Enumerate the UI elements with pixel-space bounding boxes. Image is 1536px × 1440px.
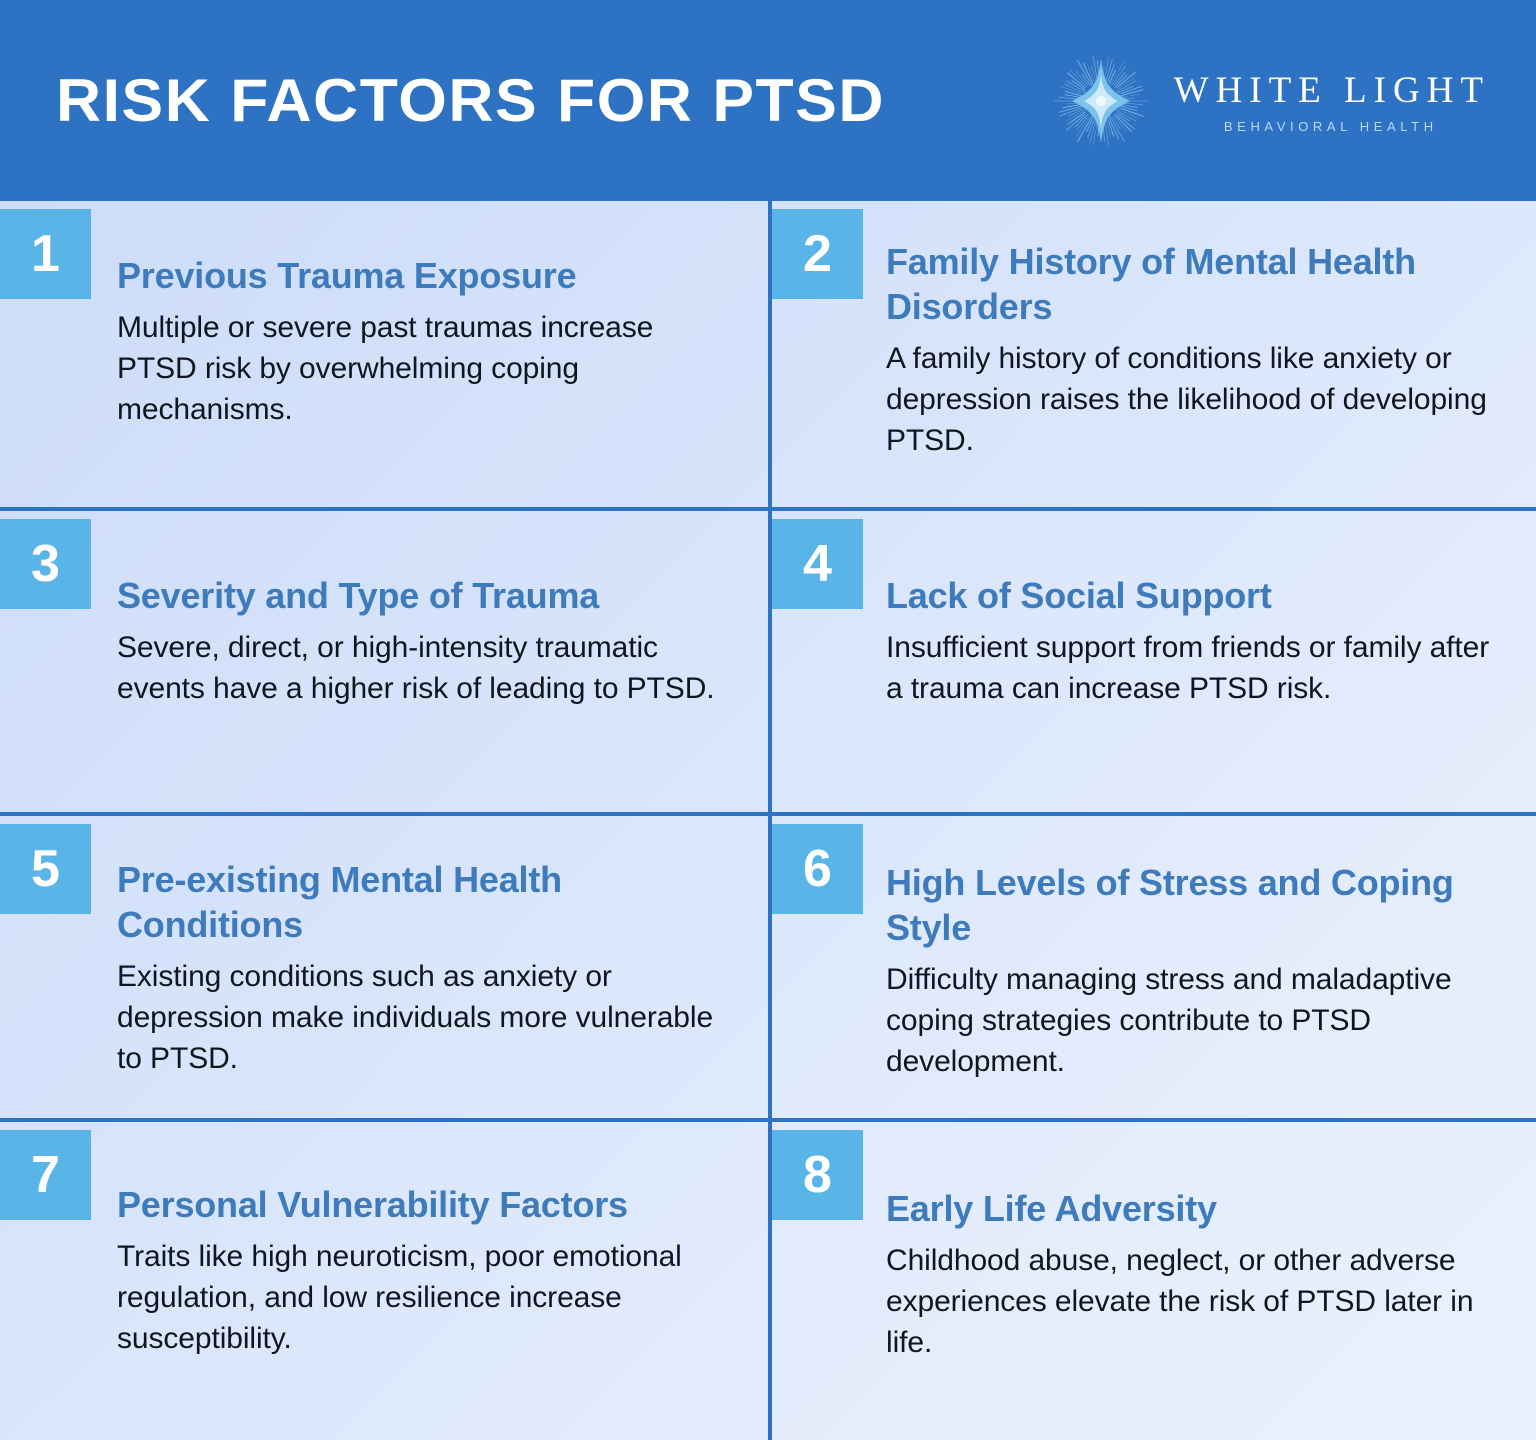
page-header: RISK FACTORS FOR PTSD WHITE LIGHT BEHAVI… xyxy=(0,0,1536,201)
card-number-badge: 2 xyxy=(772,209,863,299)
risk-factor-card: 2 Family History of Mental Health Disord… xyxy=(768,201,1536,507)
card-description: Existing conditions such as anxiety or d… xyxy=(117,956,738,1079)
card-description: Traits like high neuroticism, poor emoti… xyxy=(117,1236,738,1359)
card-description: Difficulty managing stress and maladapti… xyxy=(886,959,1506,1082)
infographic-page: RISK FACTORS FOR PTSD WHITE LIGHT BEHAVI… xyxy=(0,0,1536,1440)
card-body: Severity and Type of Trauma Severe, dire… xyxy=(117,573,738,709)
risk-factor-card: 6 High Levels of Stress and Coping Style… xyxy=(768,812,1536,1118)
card-title: Early Life Adversity xyxy=(886,1186,1506,1231)
card-description: Severe, direct, or high-intensity trauma… xyxy=(117,627,738,709)
card-number-badge: 7 xyxy=(0,1130,91,1220)
card-number-badge: 5 xyxy=(0,824,91,914)
page-title: RISK FACTORS FOR PTSD xyxy=(56,71,885,131)
card-title: Severity and Type of Trauma xyxy=(117,573,738,618)
risk-factor-card: 3 Severity and Type of Trauma Severe, di… xyxy=(0,507,768,812)
card-number-badge: 3 xyxy=(0,519,91,609)
card-description: Insufficient support from friends or fam… xyxy=(886,627,1506,709)
card-title: High Levels of Stress and Coping Style xyxy=(886,860,1506,950)
card-number-badge: 4 xyxy=(772,519,863,609)
card-title: Lack of Social Support xyxy=(886,573,1506,618)
card-number-badge: 8 xyxy=(772,1130,863,1220)
card-body: Early Life Adversity Childhood abuse, ne… xyxy=(886,1186,1506,1363)
card-description: A family history of conditions like anxi… xyxy=(886,338,1506,461)
card-body: Lack of Social Support Insufficient supp… xyxy=(886,573,1506,709)
risk-factor-card: 8 Early Life Adversity Childhood abuse, … xyxy=(768,1118,1536,1440)
card-body: Previous Trauma Exposure Multiple or sev… xyxy=(117,253,738,430)
risk-factor-card: 7 Personal Vulnerability Factors Traits … xyxy=(0,1118,768,1440)
card-description: Childhood abuse, neglect, or other adver… xyxy=(886,1240,1506,1363)
risk-factor-card: 4 Lack of Social Support Insufficient su… xyxy=(768,507,1536,812)
card-description: Multiple or severe past traumas increase… xyxy=(117,307,738,430)
risk-factor-card: 1 Previous Trauma Exposure Multiple or s… xyxy=(0,201,768,507)
card-body: Personal Vulnerability Factors Traits li… xyxy=(117,1182,738,1359)
brand-logo: WHITE LIGHT BEHAVIORAL HEALTH xyxy=(1049,49,1490,153)
card-number-badge: 1 xyxy=(0,209,91,299)
card-title: Family History of Mental Health Disorder… xyxy=(886,239,1506,329)
card-title: Personal Vulnerability Factors xyxy=(117,1182,738,1227)
logo-name: WHITE LIGHT xyxy=(1167,72,1490,111)
card-title: Pre-existing Mental Health Conditions xyxy=(117,857,738,947)
card-body: Family History of Mental Health Disorder… xyxy=(886,239,1506,461)
card-title: Previous Trauma Exposure xyxy=(117,253,738,298)
risk-factor-grid: 1 Previous Trauma Exposure Multiple or s… xyxy=(0,201,1536,1440)
card-body: Pre-existing Mental Health Conditions Ex… xyxy=(117,857,738,1079)
starburst-light-icon xyxy=(1049,49,1153,153)
card-body: High Levels of Stress and Coping Style D… xyxy=(886,860,1506,1082)
card-number-badge: 6 xyxy=(772,824,863,914)
logo-tagline: BEHAVIORAL HEALTH xyxy=(1219,120,1438,133)
risk-factor-card: 5 Pre-existing Mental Health Conditions … xyxy=(0,812,768,1118)
